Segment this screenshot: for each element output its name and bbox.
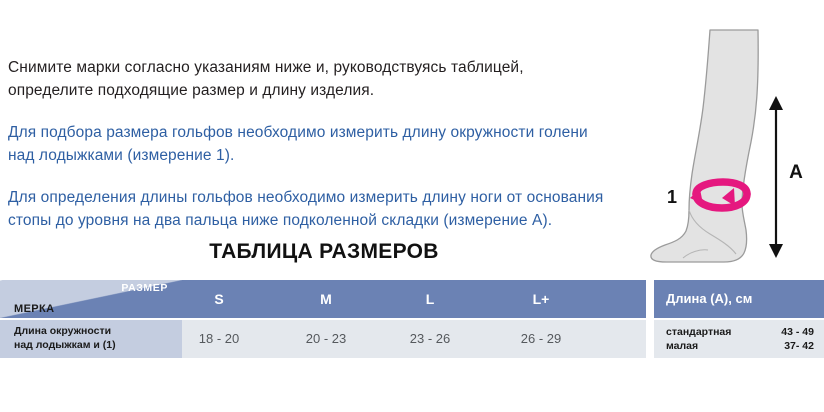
length-rows: стандартная 43 - 49 малая 37- 42 xyxy=(654,320,824,358)
length-range-standard: 43 - 49 xyxy=(781,325,814,339)
table-row: Длина окружности над лодыжкам и (1) 18 -… xyxy=(0,320,646,358)
size-table-main: РАЗМЕР МЕРКА S M L L+ Длина окружности н… xyxy=(0,280,646,360)
corner-measure-label: МЕРКА xyxy=(14,303,55,315)
length-label: A xyxy=(789,162,803,183)
size-header-s: S xyxy=(182,280,256,318)
size-header-lplus: L+ xyxy=(504,280,578,318)
measurement-label-line1: Длина окружности xyxy=(14,324,182,338)
size-header-m: M xyxy=(289,280,363,318)
instruction-paragraph-2: Для подбора размера гольфов необходимо и… xyxy=(8,121,608,167)
length-row-small: малая 37- 42 xyxy=(666,339,824,353)
length-row-standard: стандартная 43 - 49 xyxy=(666,325,824,339)
leg-measurement-illustration: 1 A xyxy=(648,28,824,278)
length-range-small: 37- 42 xyxy=(784,339,814,353)
size-header-l: L xyxy=(393,280,467,318)
value-lplus: 26 - 29 xyxy=(504,320,578,358)
instruction-paragraph-3: Для определения длины гольфов необходимо… xyxy=(8,186,608,232)
size-table: РАЗМЕР МЕРКА S M L L+ Длина окружности н… xyxy=(0,280,824,360)
length-dimension-arrow-icon xyxy=(769,96,783,258)
length-name-small: малая xyxy=(666,340,698,352)
value-l: 23 - 26 xyxy=(393,320,467,358)
circumference-label: 1 xyxy=(667,187,677,207)
corner-header-cell: РАЗМЕР МЕРКА xyxy=(0,280,182,318)
corner-size-label: РАЗМЕР xyxy=(121,282,168,294)
instruction-paragraph-1: Снимите марки согласно указаниям ниже и,… xyxy=(8,56,608,102)
value-m: 20 - 23 xyxy=(289,320,363,358)
measurement-label-cell: Длина окружности над лодыжкам и (1) xyxy=(0,320,182,358)
length-table: Длина (А), см стандартная 43 - 49 малая … xyxy=(654,280,824,360)
table-header-row: РАЗМЕР МЕРКА S M L L+ xyxy=(0,280,646,318)
length-name-standard: стандартная xyxy=(666,326,731,338)
instructions-block: Снимите марки согласно указаниям ниже и,… xyxy=(8,56,608,232)
leg-silhouette-icon xyxy=(651,30,758,262)
measurement-label-line2: над лодыжкам и (1) xyxy=(14,338,182,352)
page-title: ТАБЛИЦА РАЗМЕРОВ xyxy=(0,240,648,264)
value-s: 18 - 20 xyxy=(182,320,256,358)
length-header: Длина (А), см xyxy=(654,280,824,318)
